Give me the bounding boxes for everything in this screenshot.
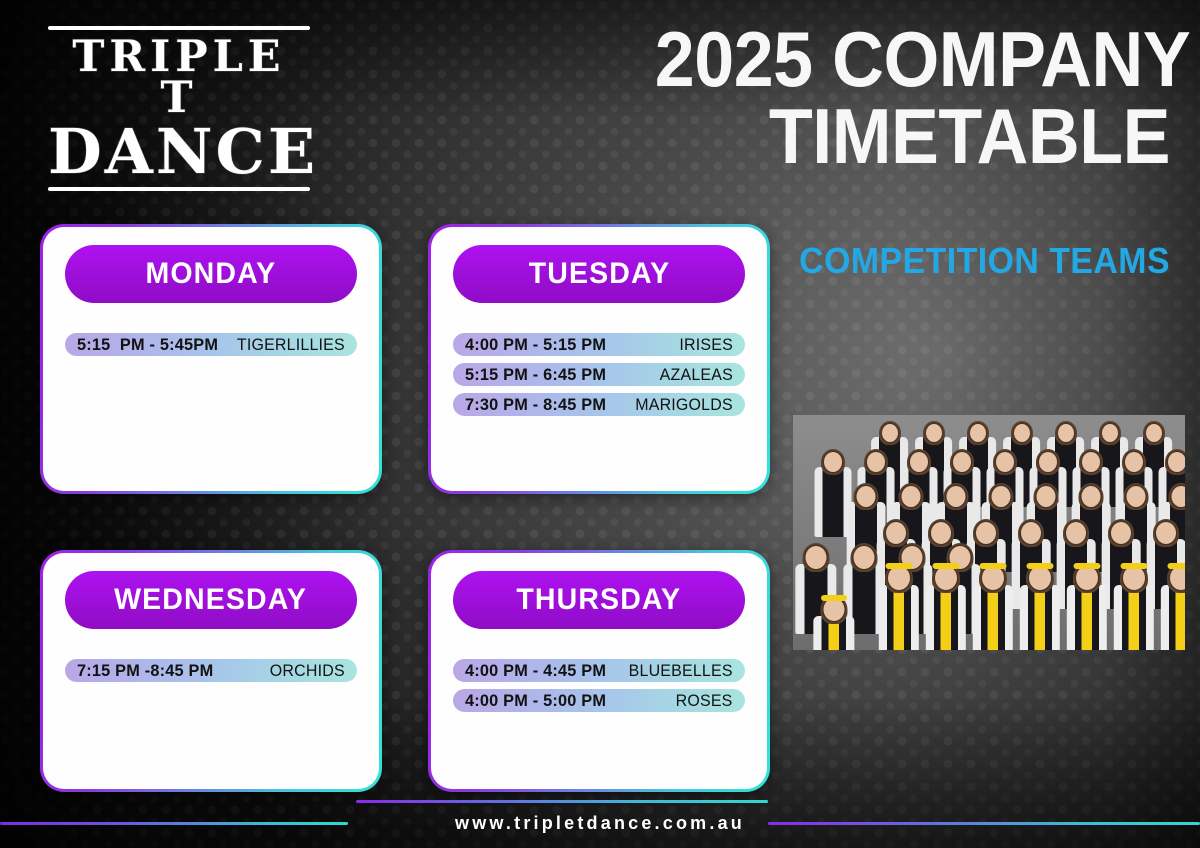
group-photo-person-face	[976, 522, 996, 544]
group-photo-person-face	[1039, 452, 1057, 472]
group-photo-person-jacket	[1067, 585, 1107, 651]
class-list: 5:15 PM - 5:45PM TIGERLILLIES	[65, 333, 357, 356]
logo-rule-top	[48, 26, 310, 30]
group-photo-person-face	[857, 486, 876, 507]
class-row[interactable]: 7:30 PM - 8:45 PM MARIGOLDS	[453, 393, 745, 416]
group-photo-person	[1065, 563, 1109, 650]
group-photo-person-face	[1168, 452, 1185, 472]
day-name-label: TUESDAY	[528, 257, 670, 291]
group-photo-person-jacket	[973, 585, 1013, 651]
group-photo-person	[1018, 563, 1062, 650]
group-photo-person	[1112, 563, 1156, 650]
class-team: TIGERLILLIES	[237, 335, 345, 355]
group-photo-person-face	[1066, 522, 1086, 544]
group-photo-person	[811, 595, 856, 650]
group-photo-person-face	[823, 598, 844, 621]
group-photo-person-face	[1082, 486, 1101, 507]
title-line-1: 2025 COMPANY	[655, 22, 1170, 97]
logo-line-triple-t: TRIPLE T	[48, 37, 310, 120]
group-photo-person-face	[1076, 566, 1098, 590]
group-photo-person-headband	[980, 563, 1007, 569]
day-header-pill: TUESDAY	[453, 245, 745, 303]
class-team: BLUEBELLES	[629, 661, 733, 681]
day-name-label: WEDNESDAY	[115, 583, 308, 617]
group-photo-person	[971, 563, 1015, 650]
class-list: 4:00 PM - 4:45 PM BLUEBELLES 4:00 PM - 5…	[453, 659, 745, 712]
group-photo-person-face	[886, 522, 906, 544]
group-photo-person-face	[931, 522, 951, 544]
group-photo-person-headband	[886, 563, 913, 569]
day-header-pill: THURSDAY	[453, 571, 745, 629]
day-card-inner: WEDNESDAY 7:15 PM -8:45 PM ORCHIDS	[43, 553, 379, 789]
group-photo-person-face	[853, 546, 874, 569]
group-photo-person-face	[867, 452, 885, 472]
group-photo-person-face	[953, 452, 971, 472]
group-photo-person-jacket	[926, 585, 966, 651]
group-photo-person-headband	[821, 595, 847, 601]
class-row[interactable]: 5:15 PM - 6:45 PM AZALEAS	[453, 363, 745, 386]
class-time: 5:15 PM - 5:45PM	[77, 335, 218, 355]
group-photo-person-face	[1172, 486, 1186, 507]
class-time: 7:15 PM -8:45 PM	[77, 661, 213, 681]
footer-website[interactable]: www.tripletdance.com.au	[0, 813, 1200, 834]
group-photo-person-face	[882, 424, 898, 442]
group-photo-person-face	[1170, 566, 1185, 590]
group-photo-person-face	[992, 486, 1011, 507]
group-photo-person-face	[970, 424, 986, 442]
brand-logo: TRIPLE T DANCE	[48, 26, 310, 191]
group-photo	[793, 415, 1185, 650]
class-list: 4:00 PM - 5:15 PM IRISES 5:15 PM - 6:45 …	[453, 333, 745, 416]
class-row[interactable]: 4:00 PM - 4:45 PM BLUEBELLES	[453, 659, 745, 682]
group-photo-person-face	[910, 452, 928, 472]
day-name-label: MONDAY	[146, 257, 277, 291]
group-photo-person-face	[902, 486, 921, 507]
day-card-wednesday: WEDNESDAY 7:15 PM -8:45 PM ORCHIDS	[40, 550, 382, 792]
day-card-monday: MONDAY 5:15 PM - 5:45PM TIGERLILLIES	[40, 224, 382, 494]
group-photo-person-face	[1014, 424, 1030, 442]
group-photo-person-face	[1146, 424, 1162, 442]
group-photo-person-headband	[1027, 563, 1054, 569]
group-photo-person-face	[1029, 566, 1051, 590]
day-card-inner: THURSDAY 4:00 PM - 4:45 PM BLUEBELLES 4:…	[431, 553, 767, 789]
class-list: 7:15 PM -8:45 PM ORCHIDS	[65, 659, 357, 682]
group-photo-person-face	[805, 546, 826, 569]
group-photo-person-jacket	[879, 585, 919, 651]
logo-rule-bottom	[48, 187, 310, 191]
group-photo-person-jacket	[1020, 585, 1060, 651]
group-photo-person-face	[1127, 486, 1146, 507]
group-photo-person	[877, 563, 921, 650]
group-photo-person-face	[1082, 452, 1100, 472]
group-photo-person-face	[1123, 566, 1145, 590]
group-photo-person-headband	[1168, 563, 1186, 569]
day-card-tuesday: TUESDAY 4:00 PM - 5:15 PM IRISES 5:15 PM…	[428, 224, 770, 494]
group-photo-person-face	[935, 566, 957, 590]
timetable-poster: TRIPLE T DANCE 2025 COMPANY TIMETABLE CO…	[0, 0, 1200, 848]
class-team: IRISES	[679, 335, 733, 355]
group-photo-person-jacket	[1114, 585, 1154, 651]
class-team: AZALEAS	[660, 365, 733, 385]
group-photo-person-face	[1021, 522, 1041, 544]
group-photo-people	[793, 415, 1185, 650]
group-photo-person-headband	[1074, 563, 1101, 569]
day-card-inner: MONDAY 5:15 PM - 5:45PM TIGERLILLIES	[43, 227, 379, 491]
footer-accent-line-top	[356, 800, 768, 803]
class-team: MARIGOLDS	[635, 395, 733, 415]
class-row[interactable]: 7:15 PM -8:45 PM ORCHIDS	[65, 659, 357, 682]
title-line-2: TIMETABLE	[655, 99, 1170, 174]
page-title: 2025 COMPANY TIMETABLE	[610, 22, 1170, 174]
class-row[interactable]: 4:00 PM - 5:00 PM ROSES	[453, 689, 745, 712]
group-photo-person-headband	[933, 563, 960, 569]
day-header-pill: WEDNESDAY	[65, 571, 357, 629]
class-team: ROSES	[676, 691, 733, 711]
day-name-label: THURSDAY	[517, 583, 682, 617]
logo-line-dance: DANCE	[48, 122, 310, 182]
class-time: 7:30 PM - 8:45 PM	[465, 395, 606, 415]
group-photo-person	[924, 563, 968, 650]
class-time: 4:00 PM - 4:45 PM	[465, 661, 606, 681]
group-photo-person-face	[1037, 486, 1056, 507]
group-photo-person-face	[1111, 522, 1131, 544]
group-photo-person-face	[926, 424, 942, 442]
day-card-inner: TUESDAY 4:00 PM - 5:15 PM IRISES 5:15 PM…	[431, 227, 767, 491]
class-time: 5:15 PM - 6:45 PM	[465, 365, 606, 385]
class-time: 4:00 PM - 5:15 PM	[465, 335, 606, 355]
group-photo-person-face	[1102, 424, 1118, 442]
group-photo-person-face	[982, 566, 1004, 590]
group-photo-person-face	[947, 486, 966, 507]
day-card-thursday: THURSDAY 4:00 PM - 4:45 PM BLUEBELLES 4:…	[428, 550, 770, 792]
group-photo-person	[1159, 563, 1185, 650]
class-row[interactable]: 4:00 PM - 5:15 PM IRISES	[453, 333, 745, 356]
group-photo-person-jacket	[1161, 585, 1185, 651]
group-photo-person-face	[1125, 452, 1143, 472]
class-time: 4:00 PM - 5:00 PM	[465, 691, 606, 711]
group-photo-person-face	[1058, 424, 1074, 442]
group-photo-person-face	[888, 566, 910, 590]
group-photo-person-headband	[1121, 563, 1148, 569]
group-photo-person-face	[1156, 522, 1176, 544]
class-team: ORCHIDS	[270, 661, 345, 681]
day-header-pill: MONDAY	[65, 245, 357, 303]
group-photo-person-face	[996, 452, 1014, 472]
group-photo-person-face	[824, 452, 842, 472]
class-row[interactable]: 5:15 PM - 5:45PM TIGERLILLIES	[65, 333, 357, 356]
